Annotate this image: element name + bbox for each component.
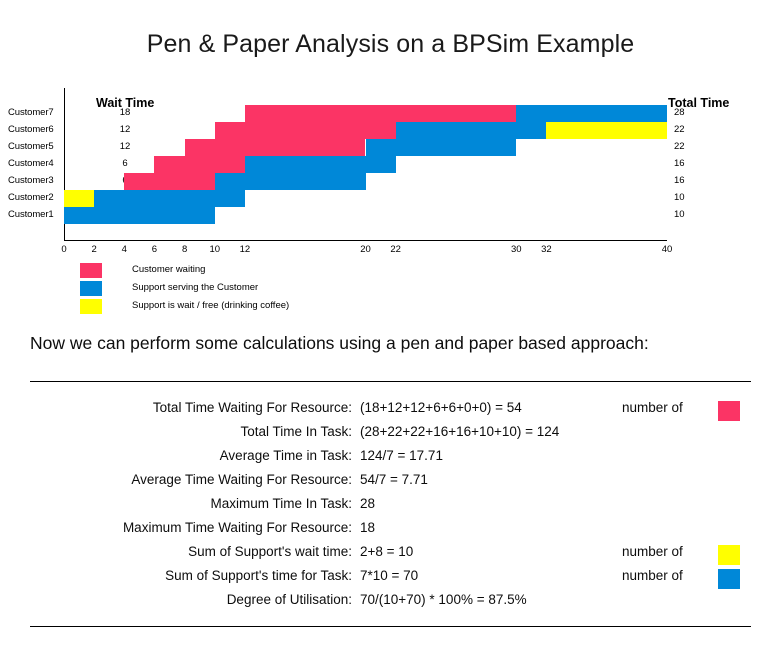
legend-swatch-free bbox=[80, 299, 102, 314]
calculation-label: Maximum Time In Task: bbox=[60, 496, 352, 511]
chart-row: Customer71828 bbox=[0, 105, 781, 122]
total-time-value: 16 bbox=[674, 158, 724, 169]
bar-segment-waiting bbox=[245, 105, 516, 122]
calculation-swatch bbox=[718, 569, 740, 589]
total-time-value: 10 bbox=[674, 209, 724, 220]
wait-time-value: 6 bbox=[96, 158, 154, 169]
x-axis-line bbox=[64, 240, 667, 241]
divider-top bbox=[30, 381, 751, 382]
chart-row: Customer51222 bbox=[0, 139, 781, 156]
chart-row: Customer3616 bbox=[0, 173, 781, 190]
calculation-row: Average Time in Task:124/7 = 17.71 bbox=[0, 448, 781, 470]
calculation-value: 18 bbox=[360, 520, 375, 535]
x-tick-label: 22 bbox=[376, 244, 416, 255]
page-title: Pen & Paper Analysis on a BPSim Example bbox=[0, 30, 781, 59]
calculation-value: 2+8 = 10 bbox=[360, 544, 413, 559]
calculation-row: Sum of Support's wait time:2+8 = 10numbe… bbox=[0, 544, 781, 566]
calculation-swatch bbox=[718, 545, 740, 565]
calculation-swatch bbox=[718, 401, 740, 421]
chart-row: Customer61222 bbox=[0, 122, 781, 139]
calculation-row: Maximum Time In Task:28 bbox=[0, 496, 781, 518]
calculation-label: Average Time Waiting For Resource: bbox=[60, 472, 352, 487]
calculations-intro: Now we can perform some calculations usi… bbox=[30, 333, 770, 354]
bar-segment-free bbox=[546, 122, 667, 139]
calculation-label: Sum of Support's time for Task: bbox=[60, 568, 352, 583]
calculation-label: Average Time in Task: bbox=[60, 448, 352, 463]
legend-label: Support serving the Customer bbox=[132, 282, 258, 293]
bar-segment-serving bbox=[64, 207, 215, 224]
bar-segment-serving bbox=[245, 156, 396, 173]
bar-segment-serving bbox=[366, 139, 517, 156]
calculation-label: Maximum Time Waiting For Resource: bbox=[60, 520, 352, 535]
row-label: Customer1 bbox=[8, 209, 60, 220]
total-time-value: 28 bbox=[674, 107, 724, 118]
wait-time-value: 12 bbox=[96, 124, 154, 135]
chart-row: Customer210 bbox=[0, 190, 781, 207]
chart-row: Customer110 bbox=[0, 207, 781, 224]
calculation-value: 7*10 = 70 bbox=[360, 568, 418, 583]
total-time-value: 10 bbox=[674, 192, 724, 203]
legend-swatch-waiting bbox=[80, 263, 102, 278]
legend-swatch-serving bbox=[80, 281, 102, 296]
row-label: Customer2 bbox=[8, 192, 60, 203]
gantt-chart: Wait Time Total Time Customer71828Custom… bbox=[0, 88, 781, 248]
calculation-note: number of bbox=[622, 400, 683, 415]
divider-bottom bbox=[30, 626, 751, 627]
bar-segment-serving bbox=[516, 105, 667, 122]
wait-time-value: 12 bbox=[96, 141, 154, 152]
calculation-note: number of bbox=[622, 544, 683, 559]
bar-segment-serving bbox=[396, 122, 547, 139]
row-label: Customer4 bbox=[8, 158, 60, 169]
wait-time-value: 18 bbox=[96, 107, 154, 118]
calculation-row: Degree of Utilisation:70/(10+70) * 100% … bbox=[0, 592, 781, 614]
row-label: Customer3 bbox=[8, 175, 60, 186]
bar-segment-waiting bbox=[154, 156, 244, 173]
calculation-row: Total Time In Task:(28+22+22+16+16+10+10… bbox=[0, 424, 781, 446]
calculation-value: (18+12+12+6+6+0+0) = 54 bbox=[360, 400, 522, 415]
total-time-value: 22 bbox=[674, 141, 724, 152]
bar-segment-waiting bbox=[215, 122, 396, 139]
calculation-row: Average Time Waiting For Resource:54/7 =… bbox=[0, 472, 781, 494]
total-time-value: 22 bbox=[674, 124, 724, 135]
calculation-value: 54/7 = 7.71 bbox=[360, 472, 428, 487]
calculation-value: (28+22+22+16+16+10+10) = 124 bbox=[360, 424, 559, 439]
bar-segment-waiting bbox=[185, 139, 366, 156]
bar-segment-waiting bbox=[124, 173, 214, 190]
x-tick-label: 40 bbox=[647, 244, 687, 255]
calculation-value: 70/(10+70) * 100% = 87.5% bbox=[360, 592, 527, 607]
calculation-label: Degree of Utilisation: bbox=[60, 592, 352, 607]
calculation-label: Total Time In Task: bbox=[60, 424, 352, 439]
row-label: Customer6 bbox=[8, 124, 60, 135]
calculation-value: 124/7 = 17.71 bbox=[360, 448, 443, 463]
bar-segment-free bbox=[64, 190, 94, 207]
legend-label: Support is wait / free (drinking coffee) bbox=[132, 300, 289, 311]
calculation-label: Sum of Support's wait time: bbox=[60, 544, 352, 559]
row-label: Customer7 bbox=[8, 107, 60, 118]
row-label: Customer5 bbox=[8, 141, 60, 152]
chart-row: Customer4616 bbox=[0, 156, 781, 173]
x-tick-label: 32 bbox=[526, 244, 566, 255]
x-tick-label: 12 bbox=[225, 244, 265, 255]
legend-label: Customer waiting bbox=[132, 264, 205, 275]
calculation-row: Total Time Waiting For Resource:(18+12+1… bbox=[0, 400, 781, 422]
calculation-note: number of bbox=[622, 568, 683, 583]
bar-segment-serving bbox=[94, 190, 245, 207]
calculation-row: Sum of Support's time for Task:7*10 = 70… bbox=[0, 568, 781, 590]
calculation-row: Maximum Time Waiting For Resource:18 bbox=[0, 520, 781, 542]
bar-segment-serving bbox=[215, 173, 366, 190]
calculation-value: 28 bbox=[360, 496, 375, 511]
total-time-value: 16 bbox=[674, 175, 724, 186]
calculation-label: Total Time Waiting For Resource: bbox=[60, 400, 352, 415]
